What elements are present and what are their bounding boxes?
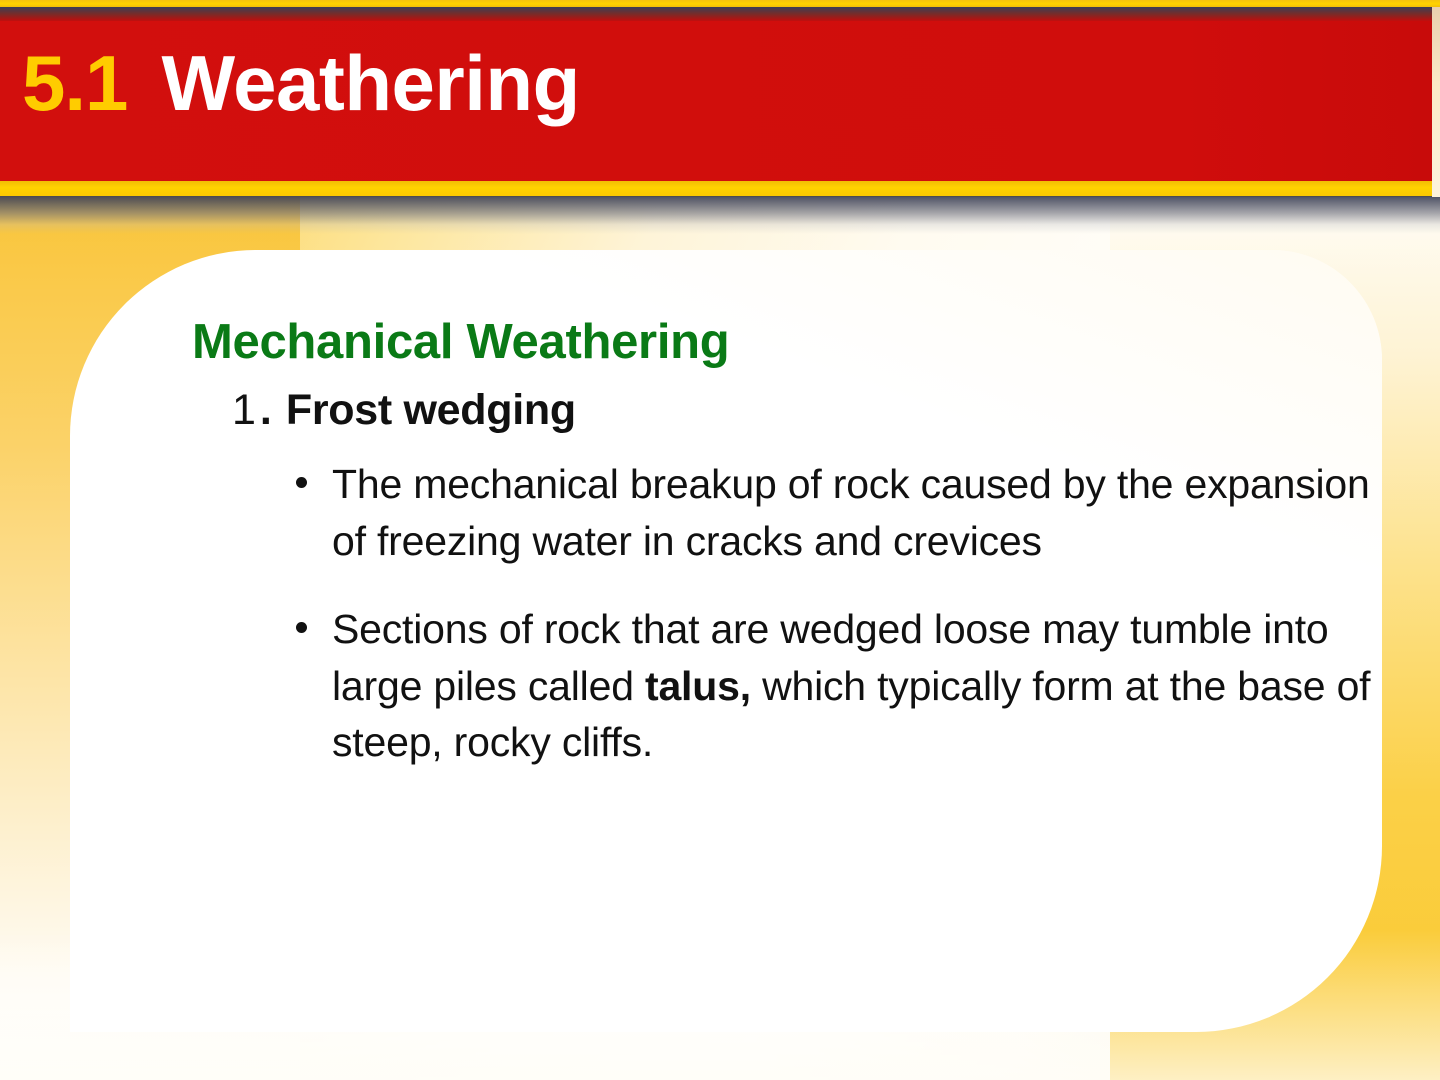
header-top-gold-rule	[0, 0, 1440, 7]
bullet-text-bold: talus,	[645, 663, 751, 709]
list-item: The mechanical breakup of rock caused by…	[192, 456, 1372, 569]
header-bottom-shadow	[0, 196, 1440, 234]
header-title-group: 5.1 Weathering	[22, 44, 580, 122]
numbered-item-label: Frost wedging	[286, 386, 576, 434]
slide-content: Mechanical Weathering 1. Frost wedging T…	[192, 316, 1372, 803]
list-number-period: .	[260, 386, 272, 434]
bullet-list: The mechanical breakup of rock caused by…	[192, 456, 1372, 771]
list-number: 1	[232, 386, 256, 434]
section-heading: Mechanical Weathering	[192, 316, 1372, 370]
slide: 5.1 Weathering Mechanical Weathering 1. …	[0, 0, 1440, 1080]
bullet-dot-icon	[296, 477, 307, 488]
header-bottom-gold-rule	[0, 181, 1436, 197]
section-number: 5.1	[22, 44, 127, 122]
bullet-text-lead: The mechanical breakup of rock caused by…	[332, 461, 1370, 564]
bullet-dot-icon	[296, 622, 307, 633]
slide-header: 5.1 Weathering	[0, 0, 1440, 196]
list-item: Sections of rock that are wedged loose m…	[192, 601, 1372, 771]
header-right-edge	[1432, 7, 1440, 197]
page-title: Weathering	[161, 44, 579, 122]
numbered-list-item: 1. Frost wedging	[192, 386, 1372, 434]
